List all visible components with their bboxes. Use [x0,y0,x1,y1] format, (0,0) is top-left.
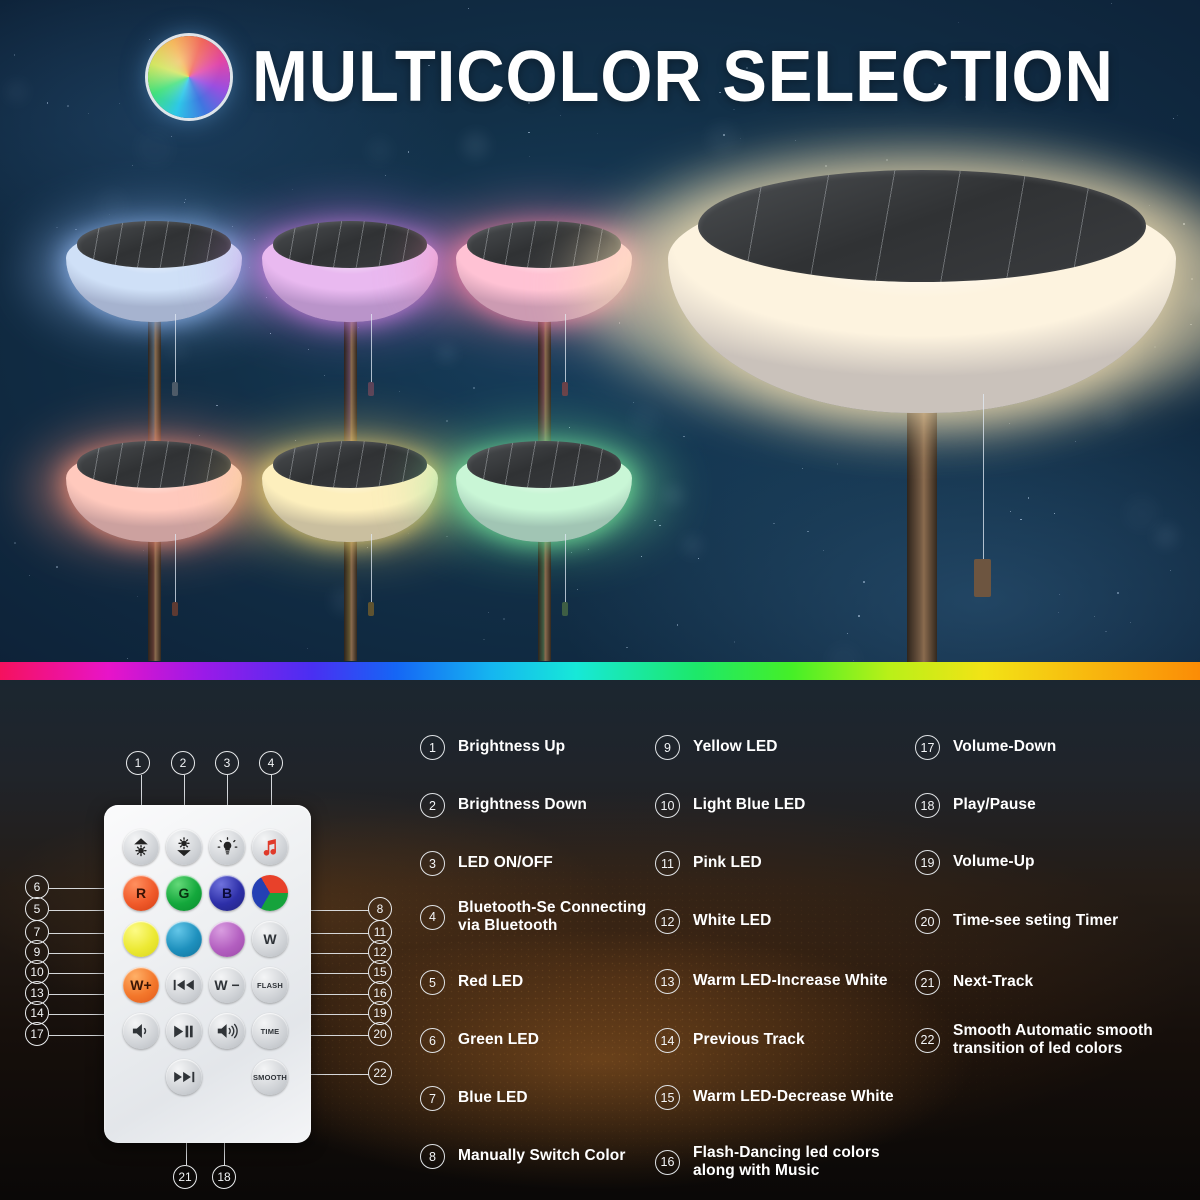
legend-item-5: 5 Red LED [420,970,650,995]
next-track-icon [173,1069,195,1085]
legend-number: 9 [655,735,680,760]
legend-number: 11 [655,851,680,876]
legend-item-15: 15 Warm LED-Decrease White [655,1085,910,1110]
legend-item-14: 14 Previous Track [655,1028,910,1053]
callout-number-1: 1 [126,751,150,775]
remote-button-play-pause-icon[interactable] [166,1013,202,1049]
pull-string [175,314,176,382]
legend-item-13: 13 Warm LED-Increase White [655,969,910,994]
legend-number: 14 [655,1028,680,1053]
remote-button-color-wheel-pie-icon[interactable] [252,875,288,911]
callout-number-17: 17 [25,1022,49,1046]
solar-cell-lines [77,441,232,487]
legend-label: Warm LED-Increase White [693,972,888,990]
legend-label: Blue LED [458,1089,528,1107]
legend-label: Bluetooth-Se Connecting via Bluetooth [458,899,650,936]
remote-button-red-led-button[interactable]: R [123,875,159,911]
legend-label: Volume-Up [953,853,1035,871]
legend-number: 7 [420,1086,445,1111]
legend-label: Pink LED [693,854,762,872]
legend-number: 3 [420,851,445,876]
pull-string [175,534,176,602]
remote-button-green-led-button[interactable]: G [166,875,202,911]
legend-item-16: 16 Flash-Dancing led colors along with M… [655,1144,910,1181]
pull-string [371,534,372,602]
remote-button-time-button[interactable]: TIME [252,1013,288,1049]
rainbow-divider-bar [0,662,1200,680]
legend-list: 1 Brightness Up 2 Brightness Down 3 LED … [420,680,1200,1200]
legend-item-6: 6 Green LED [420,1028,650,1053]
pull-string-tag [368,382,374,396]
legend-number: 18 [915,793,940,818]
callout-number-20: 20 [368,1022,392,1046]
legend-label: Manually Switch Color [458,1147,625,1165]
button-label: W − [214,977,239,993]
lamp-warm-white-large [668,186,1176,662]
pull-string-tag [172,602,178,616]
legend-label: Green LED [458,1031,539,1049]
legend-label: Light Blue LED [693,796,805,814]
remote-button-warm-white-down-button[interactable]: W − [209,967,245,1003]
legend-label: Brightness Down [458,796,587,814]
solar-panel [273,221,428,267]
legend-label: Time-see seting Timer [953,912,1118,930]
legend-item-11: 11 Pink LED [655,851,910,876]
legend-number: 20 [915,909,940,934]
solar-panel [77,221,232,267]
legend-item-22: 22 Smooth Automatic smooth transition of… [915,1022,1185,1059]
remote-button-pink-led-button[interactable] [209,921,245,957]
ir-remote-control: RGBWW+W −FLASHTIMESMOOTH [104,805,311,1143]
remote-button-yellow-led-button[interactable] [123,921,159,957]
legend-item-8: 8 Manually Switch Color [420,1144,650,1169]
music-note-icon [260,837,280,857]
hero-night-sky-section: MULTICOLOR SELECTION [0,0,1200,662]
button-label: G [179,885,190,901]
legend-label: Red LED [458,973,523,991]
rainbow-color-wheel-icon [148,36,230,118]
solar-panel [698,170,1145,282]
solar-cell-lines [467,221,622,267]
remote-button-blue-led-button[interactable]: B [209,875,245,911]
legend-item-4: 4 Bluetooth-Se Connecting via Bluetooth [420,899,650,936]
remote-button-flash-button[interactable]: FLASH [252,967,288,1003]
lamp-salmon [66,448,242,662]
legend-item-3: 3 LED ON/OFF [420,851,650,876]
solar-panel [273,441,428,487]
legend-item-7: 7 Blue LED [420,1086,650,1111]
remote-button-light-blue-led-button[interactable] [166,921,202,957]
button-label: W [263,931,276,947]
pull-string-tag [974,559,991,597]
remote-button-volume-down-icon[interactable] [123,1013,159,1049]
button-label: SMOOTH [253,1073,287,1082]
pull-string [371,314,372,382]
legend-label: Smooth Automatic smooth transition of le… [953,1022,1185,1059]
lamp-mint-green [456,448,632,662]
legend-label: Warm LED-Decrease White [693,1088,894,1106]
lamp-purple [262,228,438,454]
legend-item-17: 17 Volume-Down [915,735,1185,760]
legend-item-9: 9 Yellow LED [655,735,910,760]
legend-item-19: 19 Volume-Up [915,850,1185,875]
volume-up-icon [216,1022,239,1040]
play-pause-icon [173,1024,195,1039]
callout-number-5: 5 [25,897,49,921]
callout-number-4: 4 [259,751,283,775]
button-label: B [222,885,232,901]
pull-string [983,394,984,559]
infographic-page: MULTICOLOR SELECTION [0,0,1200,1200]
legend-number: 17 [915,735,940,760]
brightness-down-icon [173,836,195,858]
legend-number: 4 [420,905,445,930]
remote-button-previous-track-icon[interactable] [166,967,202,1003]
callout-number-3: 3 [215,751,239,775]
bulb-icon [217,837,238,858]
legend-number: 10 [655,793,680,818]
legend-label: Yellow LED [693,738,778,756]
pull-string-tag [172,382,178,396]
remote-button-smooth-button[interactable]: SMOOTH [252,1059,288,1095]
legend-label: Flash-Dancing led colors along with Musi… [693,1144,910,1181]
callout-number-2: 2 [171,751,195,775]
header: MULTICOLOR SELECTION [148,36,1179,118]
legend-item-20: 20 Time-see seting Timer [915,909,1185,934]
remote-button-warm-white-up-button[interactable]: W+ [123,967,159,1003]
callout-number-22: 22 [368,1061,392,1085]
legend-label: LED ON/OFF [458,854,553,872]
callout-number-21: 21 [173,1165,197,1189]
callout-number-8: 8 [368,897,392,921]
remote-button-brightness-down-icon[interactable] [166,829,202,865]
legend-number: 22 [915,1028,940,1053]
legend-number: 5 [420,970,445,995]
pull-string-tag [562,602,568,616]
legend-number: 2 [420,793,445,818]
solar-cell-lines [273,221,428,267]
brightness-up-icon [130,836,152,858]
remote-button-next-track-icon[interactable] [166,1059,202,1095]
button-label: R [136,885,146,901]
lamp-pink [456,228,632,454]
legend-label: Brightness Up [458,738,565,756]
pull-string-tag [368,602,374,616]
legend-item-1: 1 Brightness Up [420,735,650,760]
legend-number: 1 [420,735,445,760]
legend-number: 19 [915,850,940,875]
legend-item-18: 18 Play/Pause [915,793,1185,818]
remote-legend-section: RGBWW+W −FLASHTIMESMOOTH 123465791013141… [0,680,1200,1200]
solar-cell-lines [698,170,1145,282]
button-label: TIME [261,1027,280,1036]
pull-string [565,314,566,382]
remote-button-brightness-up-icon[interactable] [123,829,159,865]
legend-number: 13 [655,969,680,994]
legend-number: 16 [655,1150,680,1175]
volume-down-icon [130,1022,152,1040]
pull-string [565,534,566,602]
lamp-light-blue [66,228,242,454]
legend-number: 6 [420,1028,445,1053]
legend-number: 8 [420,1144,445,1169]
callout-number-18: 18 [212,1165,236,1189]
legend-item-12: 12 White LED [655,909,910,934]
solar-cell-lines [77,221,232,267]
legend-item-10: 10 Light Blue LED [655,793,910,818]
legend-label: Previous Track [693,1031,805,1049]
page-title: MULTICOLOR SELECTION [252,41,1114,113]
legend-label: Next-Track [953,973,1033,991]
legend-label: White LED [693,912,771,930]
remote-button-music-note-icon[interactable] [252,829,288,865]
remote-diagram: RGBWW+W −FLASHTIMESMOOTH 123465791013141… [0,680,420,1200]
remote-button-volume-up-icon[interactable] [209,1013,245,1049]
solar-panel [467,221,622,267]
remote-button-white-led-button[interactable]: W [252,921,288,957]
solar-panel [77,441,232,487]
legend-label: Volume-Down [953,738,1056,756]
legend-item-21: 21 Next-Track [915,970,1185,995]
solar-cell-lines [467,441,622,487]
legend-label: Play/Pause [953,796,1036,814]
button-label: W+ [130,977,151,993]
legend-number: 15 [655,1085,680,1110]
callout-number-6: 6 [25,875,49,899]
previous-track-icon [173,977,195,993]
legend-item-2: 2 Brightness Down [420,793,650,818]
legend-number: 21 [915,970,940,995]
remote-button-bulb-icon[interactable] [209,829,245,865]
button-label: FLASH [257,981,283,990]
lamp-warm-yellow [262,448,438,662]
legend-number: 12 [655,909,680,934]
solar-cell-lines [273,441,428,487]
solar-panel [467,441,622,487]
pull-string-tag [562,382,568,396]
